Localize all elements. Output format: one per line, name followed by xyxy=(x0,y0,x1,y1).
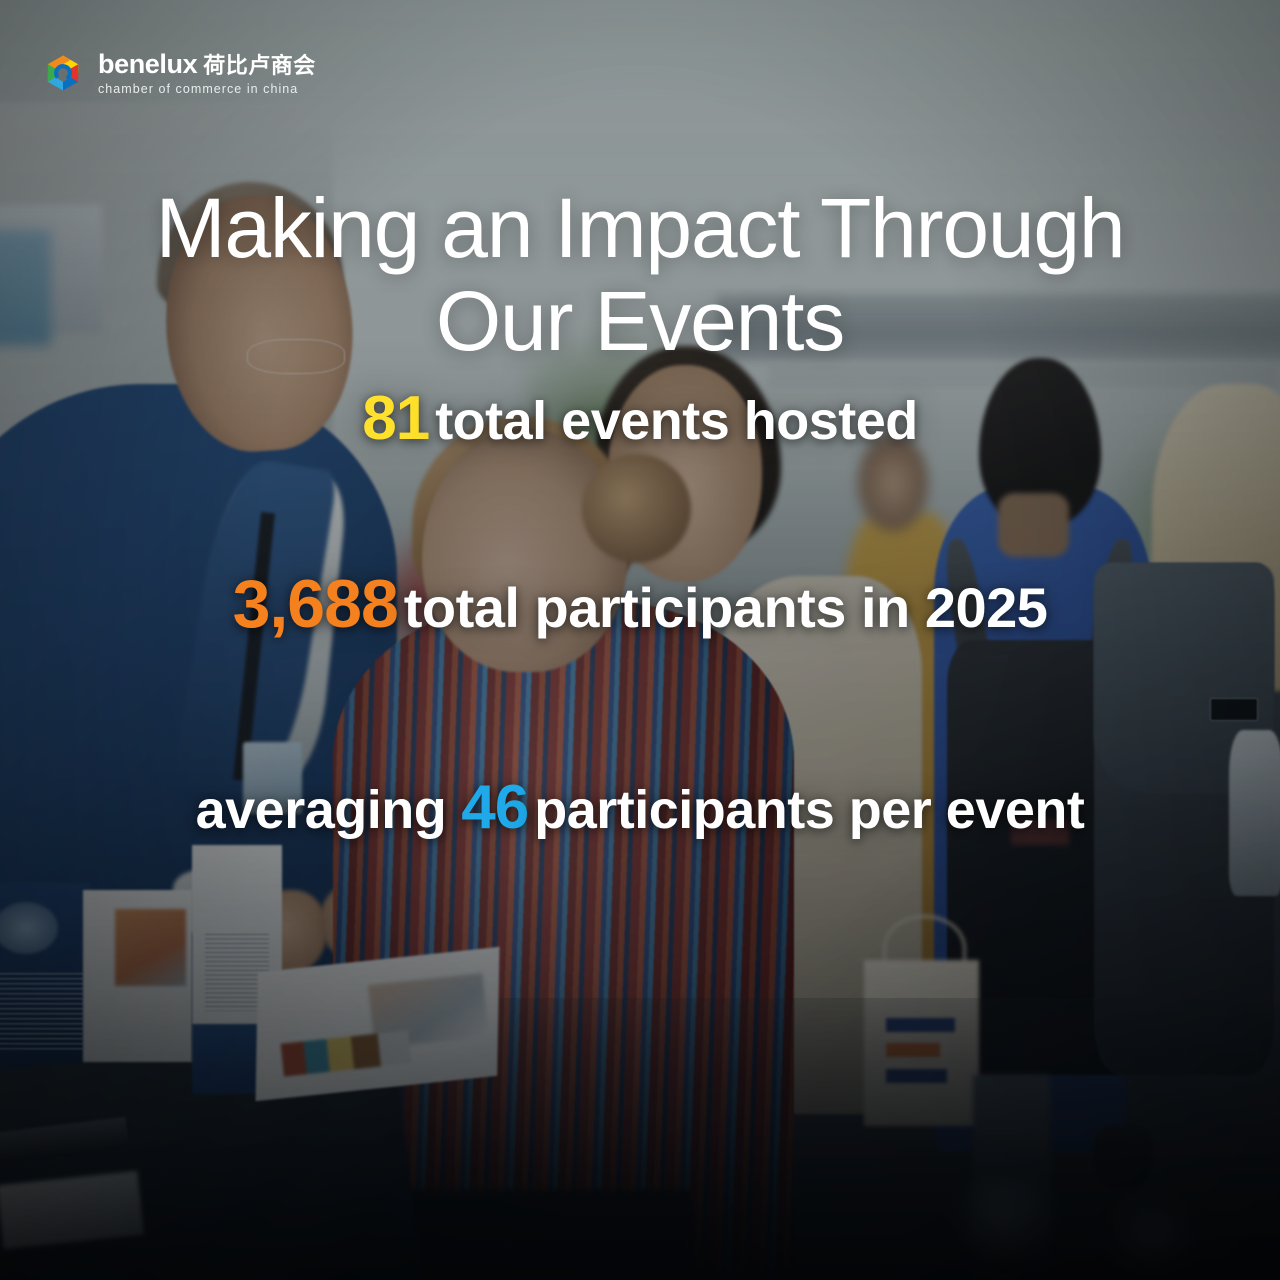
stat-average-participants: averaging 46participants per event xyxy=(30,772,1250,843)
stat-total-participants: 3,688total participants in 2025 xyxy=(30,565,1250,643)
page-title: Making an Impact Through Our Events xyxy=(80,182,1200,367)
stat-total-participants-value: 3,688 xyxy=(233,566,398,642)
brand-name-chinese: 荷比卢商会 xyxy=(203,55,316,77)
stat-total-events-value: 81 xyxy=(362,384,429,453)
stat-average-participants-prefix: averaging xyxy=(196,780,447,840)
event-stats-poster: benelux 荷比卢商会 chamber of commerce in chi… xyxy=(0,0,1280,1280)
stat-average-participants-value: 46 xyxy=(461,773,528,842)
brand-name-row: benelux 荷比卢商会 xyxy=(98,51,316,78)
stat-average-participants-label: participants per event xyxy=(534,780,1084,840)
page-title-line-1: Making an Impact Through xyxy=(156,181,1125,275)
brand-tagline: chamber of commerce in china xyxy=(98,83,316,96)
stat-total-events-label: total events hosted xyxy=(435,391,918,451)
brand-name: benelux xyxy=(98,51,197,78)
benelux-pinwheel-logo-icon xyxy=(40,50,86,96)
overlay-content: benelux 荷比卢商会 chamber of commerce in chi… xyxy=(0,0,1280,1280)
stat-total-events: 81total events hosted xyxy=(30,383,1250,454)
brand-wordmark: benelux 荷比卢商会 chamber of commerce in chi… xyxy=(98,51,316,96)
brand-logo[interactable]: benelux 荷比卢商会 chamber of commerce in chi… xyxy=(40,50,316,96)
stat-total-participants-label: total participants in 2025 xyxy=(404,576,1048,639)
page-title-line-2: Our Events xyxy=(80,275,1200,367)
